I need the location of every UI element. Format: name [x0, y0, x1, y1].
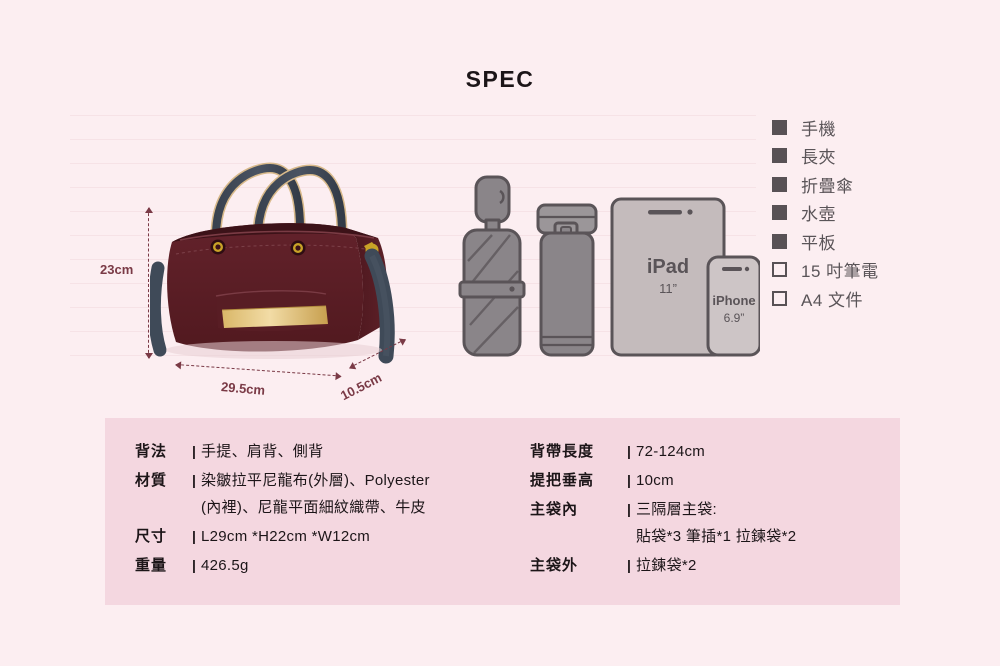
legend: 手機長夾折疊傘水壺平板15 吋筆電A4 文件	[772, 113, 992, 313]
spec-key: 背法	[135, 438, 187, 465]
spec-separator: |	[622, 552, 636, 579]
spec-value: 拉鍊袋*2	[636, 552, 697, 579]
legend-item: 長夾	[772, 142, 992, 171]
filled-square-icon	[772, 234, 787, 249]
legend-item-label: 折疊傘	[801, 172, 854, 197]
legend-item: A4 文件	[772, 284, 992, 313]
spec-row: 背法|手提、肩背、側背	[135, 438, 525, 465]
gridline	[70, 115, 756, 116]
spec-row: 重量|426.5g	[135, 552, 525, 579]
spec-value-continued: (內裡)、尼龍平面細紋織帶、牛皮	[201, 494, 430, 521]
spec-key: 材質	[135, 467, 187, 494]
object-silhouettes: iPad 11” iPhone 6.9”	[440, 175, 760, 360]
spec-value: 染皺拉平尼龍布(外層)、Polyester(內裡)、尼龍平面細紋織帶、牛皮	[201, 467, 430, 521]
spec-row: 主袋外|拉鍊袋*2	[530, 552, 890, 579]
spec-value: 10cm	[636, 467, 674, 494]
spec-separator: |	[187, 438, 201, 465]
width-dimension-line	[176, 364, 341, 378]
spec-key: 提把垂高	[530, 467, 622, 494]
spec-value: 72-124cm	[636, 438, 705, 465]
iphone-size-label: 6.9”	[708, 311, 760, 325]
legend-item-label: 長夾	[801, 143, 836, 168]
page-title: SPEC	[0, 66, 1000, 93]
legend-item: 手機	[772, 113, 992, 142]
spec-row: 材質|染皺拉平尼龍布(外層)、Polyester(內裡)、尼龍平面細紋織帶、牛皮	[135, 467, 525, 521]
legend-item: 平板	[772, 227, 992, 256]
hollow-square-icon	[772, 291, 787, 306]
hollow-square-icon	[772, 262, 787, 277]
spec-separator: |	[622, 467, 636, 494]
spec-key: 重量	[135, 552, 187, 579]
spec-panel: 背法|手提、肩背、側背材質|染皺拉平尼龍布(外層)、Polyester(內裡)、…	[105, 418, 900, 605]
ipad-label: iPad	[612, 256, 724, 279]
spec-column-left: 背法|手提、肩背、側背材質|染皺拉平尼龍布(外層)、Polyester(內裡)、…	[135, 438, 525, 581]
legend-item-label: 手機	[801, 115, 836, 140]
spec-separator: |	[187, 467, 201, 494]
gridline	[70, 139, 756, 140]
spec-row: 主袋內|三隔層主袋:貼袋*3 筆插*1 拉鍊袋*2	[530, 496, 890, 550]
spec-row: 背帶長度|72-124cm	[530, 438, 890, 465]
legend-item-label: A4 文件	[801, 286, 863, 311]
bag-illustration	[150, 150, 420, 365]
spec-separator: |	[622, 438, 636, 465]
spec-value: 三隔層主袋:貼袋*3 筆插*1 拉鍊袋*2	[636, 496, 796, 550]
spec-column-right: 背帶長度|72-124cm提把垂高|10cm主袋內|三隔層主袋:貼袋*3 筆插*…	[530, 438, 890, 581]
spec-infographic: SPEC	[0, 0, 1000, 666]
spec-key: 主袋外	[530, 552, 622, 579]
width-label: 29.5cm	[220, 379, 265, 398]
legend-item: 水壺	[772, 199, 992, 228]
spec-separator: |	[187, 552, 201, 579]
legend-item: 15 吋筆電	[772, 256, 992, 285]
spec-key: 背帶長度	[530, 438, 622, 465]
height-label: 23cm	[100, 262, 133, 277]
spec-separator: |	[187, 523, 201, 550]
filled-square-icon	[772, 148, 787, 163]
spec-value: 手提、肩背、側背	[201, 438, 323, 465]
legend-item: 折疊傘	[772, 170, 992, 199]
filled-square-icon	[772, 120, 787, 135]
filled-square-icon	[772, 177, 787, 192]
spec-value: 426.5g	[201, 552, 249, 579]
legend-item-label: 水壺	[801, 200, 836, 225]
spec-key: 主袋內	[530, 496, 622, 523]
iphone-label: iPhone	[708, 293, 760, 308]
height-dimension-line	[148, 208, 150, 358]
spec-separator: |	[622, 496, 636, 523]
legend-item-label: 平板	[801, 229, 836, 254]
spec-row: 提把垂高|10cm	[530, 467, 890, 494]
spec-value-continued: 貼袋*3 筆插*1 拉鍊袋*2	[636, 523, 796, 550]
spec-value: L29cm *H22cm *W12cm	[201, 523, 370, 550]
legend-item-label: 15 吋筆電	[801, 257, 879, 282]
filled-square-icon	[772, 205, 787, 220]
spec-row: 尺寸|L29cm *H22cm *W12cm	[135, 523, 525, 550]
depth-label: 10.5cm	[338, 370, 384, 403]
spec-key: 尺寸	[135, 523, 187, 550]
